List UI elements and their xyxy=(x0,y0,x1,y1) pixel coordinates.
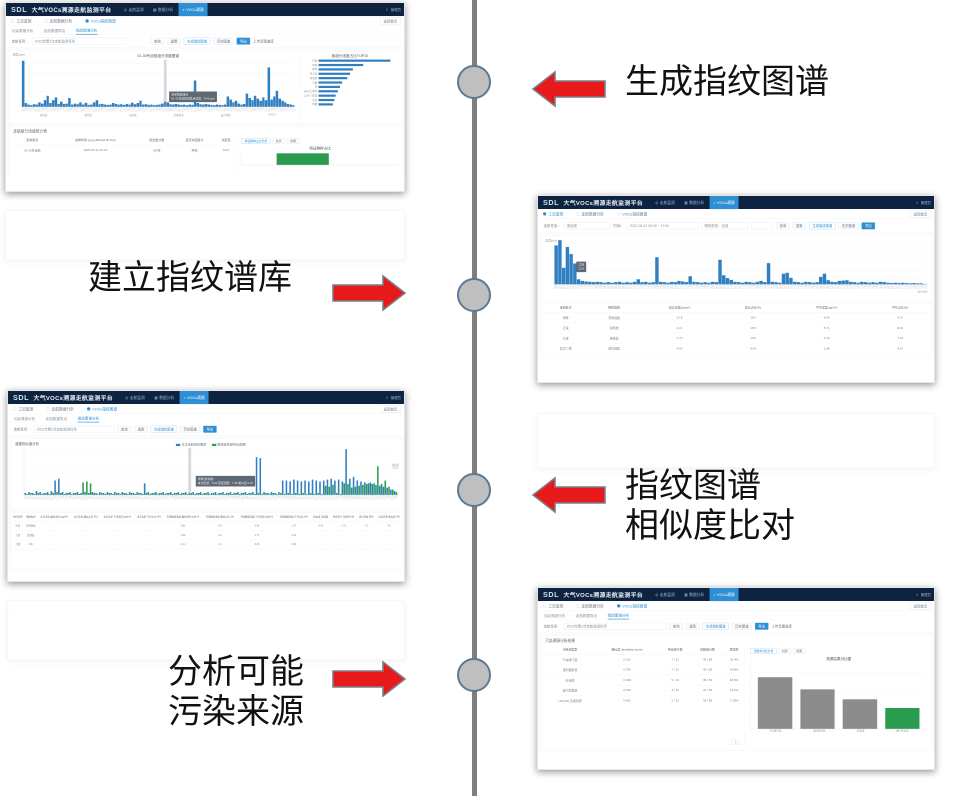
table-cell: 0.30 xyxy=(277,540,312,549)
table-cell: 9.31 xyxy=(868,313,933,323)
tab-data-export[interactable]: 走航数据导出 xyxy=(44,28,66,34)
y-axis-label: 浓度(ppb) xyxy=(13,52,25,56)
species-select[interactable]: 物种类别：全部 xyxy=(702,222,749,229)
table-cell: 1.73 xyxy=(330,521,357,530)
table-cell: 01-30号走航 xyxy=(13,145,51,155)
table-header-cell: 贡献率 xyxy=(724,646,745,655)
sub-nav-item-working-condition[interactable]: 工况监测 xyxy=(11,18,31,23)
bar xyxy=(297,481,299,495)
table-cell: 甲苯 xyxy=(11,521,24,530)
table-cell: 6.04 xyxy=(785,313,867,323)
bar xyxy=(289,481,291,494)
flow-label-step-2: 建立指纹谱库 xyxy=(88,258,292,298)
chart-icon: ◎ xyxy=(124,7,127,11)
x-tick-labels xyxy=(21,107,295,113)
radio-icon-selected xyxy=(85,19,88,22)
table-cell: 45 / 58 xyxy=(691,654,723,664)
bar-series-shot4 xyxy=(751,664,926,728)
tab-navigation-monitoring[interactable]: ◎走航监测 xyxy=(651,196,679,209)
table-header-cell: 本次走航 平均浓度 (μg/m³) xyxy=(100,513,134,521)
contribution-compare-button[interactable]: 贡献率对比分析 xyxy=(750,648,776,654)
table-cell: 乙烷 xyxy=(541,323,589,333)
sub-nav-item-voyage-analysis[interactable]: 走航数据分析 xyxy=(46,406,74,411)
radio-icon xyxy=(44,19,47,22)
source-table: 污染源类型相似度 (similarity score)特征因子数匹配组分数贡献率… xyxy=(541,646,744,706)
table-header-cell: 最高浓度组分 xyxy=(174,136,215,145)
table-header-cell: 本次走航 最高浓度 (μg/m³) xyxy=(37,513,71,521)
timeline-node-2 xyxy=(457,278,491,312)
generate-fingerprint-button[interactable]: 生成指纹图谱 xyxy=(184,38,211,45)
table-cell: - xyxy=(71,530,100,539)
sub-nav-item-working-condition[interactable]: 工况监测 xyxy=(543,211,563,216)
table-cell: 4.53 xyxy=(638,343,720,353)
table-cell: 烯烃类 xyxy=(590,333,638,343)
table-cell: 乙烯 xyxy=(11,540,24,549)
radio-icon xyxy=(576,604,579,607)
tab-pollution-trace[interactable]: 污染溯源分析 xyxy=(544,613,565,619)
bar xyxy=(319,481,321,494)
table-cell: - xyxy=(37,521,71,530)
tab-data-analysis[interactable]: ▦数据分析 xyxy=(680,588,708,601)
table-cell: 0.784 xyxy=(595,665,659,675)
table-cell: 8.02 xyxy=(868,323,933,333)
spectrum-panel: 浓度(ppb) 乙烷 12.8 组分名称 xyxy=(541,235,933,300)
voyage-select[interactable]: 2023年第2次走航监测任务 xyxy=(564,623,667,630)
table-cell: 18.6% xyxy=(724,675,745,685)
table-cell: LPG/NG 及燃烧源 xyxy=(545,696,595,706)
app-logo: SDL xyxy=(11,5,27,13)
bar xyxy=(22,61,24,107)
radio-icon-selected xyxy=(617,604,620,607)
tab-vocs-traceability[interactable]: ⌕VOCs溯源 xyxy=(709,196,738,209)
bar xyxy=(758,677,792,728)
bar-series-shot2 xyxy=(554,240,926,284)
table-header-row: 走航批次采样时间 (yyyy-MM-dd hh:mm)检出组分数最高浓度组分浓度… xyxy=(9,136,237,145)
search-icon: ⌕ xyxy=(714,592,716,597)
table-header-cell: 采样时间 (yyyy-MM-dd hh:mm) xyxy=(51,136,139,145)
tab-pollution-trace[interactable]: 污染溯源分析 xyxy=(12,28,34,34)
stats-panel-title: 走航组分浓度统计表 xyxy=(9,126,402,136)
back-home-button[interactable]: 返回首页 xyxy=(380,17,401,25)
chart-legend: 本次走航指纹图谱 图谱库匹配特征谱图 xyxy=(24,441,398,447)
sub-nav-item-voyage-analysis[interactable]: 走航数据分析 xyxy=(576,603,604,608)
stats-table: 走航批次采样时间 (yyyy-MM-dd hh:mm)检出组分数最高浓度组分浓度… xyxy=(9,136,237,155)
search-icon: ⌕ xyxy=(714,200,716,205)
tab-data-analysis[interactable]: ▦数据分析 xyxy=(149,3,177,16)
table-header-cell: 综合匹配 相似度 (%) xyxy=(376,513,403,521)
table-cell: - xyxy=(134,540,163,549)
table-row[interactable]: 油气挥发源0.5193 / 1231 / 5813.2% xyxy=(541,685,744,695)
filter-bar: 走航任务： 2023年第2次走航监测任务 查询 重置 生成指纹图谱 历史图谱 导… xyxy=(6,35,405,48)
table-cell: - xyxy=(100,530,134,539)
table-cell: 乙烯 xyxy=(541,333,589,343)
arrow-right-step-4 xyxy=(331,658,407,700)
table-cell: 9.04 xyxy=(721,343,786,353)
screenshot-panel-generate-fingerprint[interactable]: SDL 大气VOCs溯源走航监测平台 ◎走航监测 ▦数据分析 ⌕VOCs溯源 ☺… xyxy=(5,2,405,192)
generate-fingerprint-button[interactable]: 生成指纹图谱 xyxy=(151,426,177,433)
table-header-cell: 最高浓度(μg/m³) xyxy=(638,304,720,313)
radio-icon-selected xyxy=(543,212,546,215)
table-cell: 24.8% xyxy=(724,665,745,675)
table-row[interactable]: 乙烯N/A----1.0.11.13.030.30---- xyxy=(11,540,402,549)
history-spectrum-button[interactable]: 历史图谱 xyxy=(214,38,234,45)
table-cell: 31 / 58 xyxy=(691,685,723,695)
chart-icon: ◎ xyxy=(655,200,658,204)
table-row[interactable]: 石化源0.6485 / 1235 / 5818.6% xyxy=(541,675,744,685)
radio-icon xyxy=(543,604,546,607)
upload-to-library-link[interactable]: 上传至图谱库 xyxy=(771,624,792,629)
user-icon: ☺ xyxy=(915,201,918,205)
table-cell: 0.912 xyxy=(595,654,659,664)
table-header-cell: 相似度 (similarity score) xyxy=(595,646,659,655)
top10-bar-row: 丙烷 xyxy=(303,63,397,66)
date-range-input[interactable]: 2023-05-12 09:00 ~ 17:00 xyxy=(627,222,699,229)
table-row[interactable]: 乙烯烯烃类7.7210.84.127.14 xyxy=(541,333,932,343)
reset-button[interactable]: 重置 xyxy=(134,426,147,433)
table-header-cell: 污染源类型 xyxy=(545,646,595,655)
table-cell: 1.27 xyxy=(277,521,312,530)
back-home-button[interactable]: 返回首页 xyxy=(380,405,401,412)
app-logo: SDL xyxy=(543,198,559,206)
table-header-cell: 组分贡献 排序 xyxy=(357,513,376,521)
voyage-select[interactable]: 请选择 xyxy=(564,222,611,229)
table-cell: 8.4 xyxy=(203,521,238,530)
table-cell: 4.12 xyxy=(785,333,867,343)
stats-panel: 走航组分浓度统计表 走航批次采样时间 (yyyy-MM-dd hh:mm)检出组… xyxy=(9,126,403,176)
table-cell: 11.6 xyxy=(638,323,720,333)
table-cell: 甲苯 xyxy=(541,313,589,323)
table-cell: 油气挥发源 xyxy=(545,685,595,695)
sub-nav-item-working-condition[interactable]: 工况监测 xyxy=(13,406,33,411)
table-cell: 7.72 xyxy=(638,333,720,343)
table-cell: 汽车尾气源 xyxy=(545,654,595,664)
table-cell: 1.1 xyxy=(203,540,238,549)
history-spectrum-button[interactable]: 历史图谱 xyxy=(732,623,752,630)
radio-icon xyxy=(13,407,16,410)
panel-title: 污染溯源分析结果 xyxy=(541,636,932,646)
x-tick-labels xyxy=(554,285,928,291)
date-label: 时间： xyxy=(614,223,624,228)
sub-nav-item-vocs-fingerprint[interactable]: VOCs指纹图谱 xyxy=(85,18,115,23)
table-cell: - xyxy=(330,530,357,539)
filter-label: 走航任务： xyxy=(544,624,561,629)
table-cell: 15.5 xyxy=(721,323,786,333)
table-header-cell: 组分名称 xyxy=(11,513,24,521)
table-row[interactable]: 乙烷烷烃类11.615.55.718.02 xyxy=(541,323,932,333)
table-cell: - xyxy=(376,540,403,549)
table-row[interactable]: 溶剂使用源0.7847 / 1240 / 5824.8% xyxy=(541,665,744,675)
table-header-cell: 最高占比(%) xyxy=(721,304,786,313)
top10-bar-row: 甲苯 xyxy=(303,68,397,71)
bar xyxy=(885,708,919,729)
bar xyxy=(304,481,306,495)
table-cell: 5 / 12 xyxy=(659,675,691,685)
table-row[interactable]: 异戊二烯卤代烃类4.539.042.985.42 xyxy=(541,343,932,353)
user-icon: ☺ xyxy=(385,396,388,400)
table-cell: - xyxy=(37,530,71,539)
screenshot-panel-faded-upper-left: 走航批次采样时间 (yyyy-MM-dd hh:mm)检出组分数最高浓度组分浓度… xyxy=(5,210,405,260)
legend-item-current: 本次走航指纹图谱 xyxy=(176,442,206,447)
table-header-row: 污染源类型相似度 (similarity score)特征因子数匹配组分数贡献率 xyxy=(541,646,744,655)
table-header-cell: 特征因子数 xyxy=(659,646,691,655)
table-header-cell: 平均占比(%) xyxy=(868,304,933,313)
table-header-cell: 物种类别 xyxy=(24,513,37,521)
table-cell: 2.77 xyxy=(237,530,276,539)
table-cell: 乙烷 xyxy=(11,530,24,539)
bar-series-shot3 xyxy=(24,449,396,495)
similarity-chart-panel: 谱图相似度分析 本次走航指纹图谱 图谱库匹配特征谱图 甲苯(苯系物) 本次走航：… xyxy=(11,439,403,511)
generate-fingerprint-button[interactable]: 生成指纹图谱 xyxy=(702,623,728,630)
bar xyxy=(655,257,658,284)
table-cell: - xyxy=(330,540,357,549)
table-header-cell: 匹配图谱源谱 平均占比 (%) xyxy=(277,513,312,521)
sub-nav-item-vocs-fingerprint[interactable]: VOCs指纹图谱 xyxy=(617,603,647,608)
table-cell: 芳香烃类 xyxy=(590,313,638,323)
tab-data-export[interactable]: 走航数据导出 xyxy=(46,416,67,422)
search-icon: ⌕ xyxy=(184,395,186,400)
query-button[interactable]: 查询 xyxy=(118,426,131,433)
source-chart-title: 溯源结果对比图 xyxy=(750,655,927,661)
table-cell: 4.53 xyxy=(163,530,202,539)
bar xyxy=(843,699,877,729)
x-axis-group-labels: 烷烃类烯烃类炔烃类芳香烃类卤代烃类OVOCs xyxy=(21,113,295,116)
sub-nav-item-working-condition[interactable]: 工况监测 xyxy=(543,603,563,608)
user-menu[interactable]: ☺管理员 xyxy=(915,200,931,205)
table-cell: 烷烃类 xyxy=(590,323,638,333)
table-cell: 异戊二烯 xyxy=(541,343,589,353)
pie-view-button[interactable]: 饼图 xyxy=(793,648,805,654)
history-spectrum-button[interactable]: 历史图谱 xyxy=(839,222,859,229)
table-header-cell: 本次走航 平均占比 (%) xyxy=(134,513,163,521)
filter-label: 走航任务： xyxy=(12,39,29,44)
tab-data-analysis[interactable]: ▦数据分析 xyxy=(150,391,178,404)
sub-nav-row: 工况监测 走航数据分析 VOCs指纹图谱 返回首页 xyxy=(6,16,405,26)
upload-to-library-link[interactable]: 上传至图谱库 xyxy=(253,39,274,44)
table-cell: -4.1 xyxy=(376,521,403,530)
grid-icon: ▦ xyxy=(684,592,688,596)
tab-data-analysis[interactable]: ▦数据分析 xyxy=(680,196,708,209)
screenshot-panel-fingerprint-library[interactable]: SDL 大气VOCs溯源走航监测平台 ◎走航监测 ▦数据分析 ⌕VOCs溯源 ☺… xyxy=(537,195,935,383)
screenshot-panel-similarity-compare[interactable]: SDL 大气VOCs溯源走航监测平台 ◎走航监测 ▦数据分析 ⌕VOCs溯源 ☺… xyxy=(7,390,405,582)
table-cell: 4.41 xyxy=(311,521,330,530)
panel-title: 谱图相似度分析 xyxy=(15,441,39,446)
history-spectrum-button[interactable]: 历史图谱 xyxy=(180,426,200,433)
table-cell: 7 / 12 xyxy=(659,665,691,675)
table-cell: - xyxy=(357,540,376,549)
table-cell: 2.98 xyxy=(785,343,867,353)
table-row[interactable]: LPG/NG 及燃烧源0.4022 / 1228 / 587.18% xyxy=(541,696,744,706)
table-row[interactable]: 甲苯苯系物类----5.818.45.041.274.411.73-7.1-4.… xyxy=(11,521,402,530)
search-icon: ⌕ xyxy=(182,7,184,12)
table-cell: - xyxy=(311,540,330,549)
table-cell: 28 / 58 xyxy=(691,696,723,706)
table-cell: - xyxy=(376,530,403,539)
x-tick-labels-shot4: 汽车尾气源溶剂使用源石化源油气挥发源 xyxy=(750,729,927,735)
user-icon: ☺ xyxy=(385,8,389,12)
bar xyxy=(260,458,262,495)
tab-fingerprint-analysis[interactable]: 指纹图谱分析 xyxy=(76,28,98,35)
table-cell: 58 种 xyxy=(139,145,174,155)
tab-fingerprint-analysis[interactable]: 指纹图谱分析 xyxy=(608,613,629,620)
screenshot-panel-source-analysis[interactable]: SDL 大气VOCs溯源走航监测平台 ◎走航监测 ▦数据分析 ⌕VOCs溯源 ☺… xyxy=(537,587,935,770)
table-header-cell: 浓度值 xyxy=(215,136,237,145)
main-chart-panel: 浓度(ppb) 01-30号走航组分浓度图谱 苯系物类组分 01-30号走航采样… xyxy=(9,50,403,123)
voyage-select[interactable]: 2023年第2次走航监测任务 xyxy=(34,426,115,433)
user-menu[interactable]: ☺管理员 xyxy=(915,592,931,597)
table-row[interactable]: 01-30号走航2023-05-12 10:2458 种甲苯8.42 xyxy=(9,145,237,155)
tab-vocs-traceability[interactable]: ⌕VOCs溯源 xyxy=(179,391,208,404)
table-row[interactable]: 乙烷烷烃类----4.532.62.770.31---- xyxy=(11,530,402,539)
table-header-cell: 相似度 贡献值 xyxy=(311,513,330,521)
reset-button[interactable]: 重置 xyxy=(167,38,180,45)
flow-label-step-3: 指纹图谱 相似度比对 xyxy=(625,466,795,546)
export-button[interactable]: 导出 xyxy=(203,426,216,433)
table-header-row: 走航批次物种类别最高浓度(μg/m³)最高占比(%)平均浓度(μg/m³)平均占… xyxy=(541,304,932,313)
export-button[interactable]: 导出 xyxy=(862,222,875,229)
top10-bar-row: 正丁烷 xyxy=(303,72,397,75)
app-title: 大气VOCs溯源走航监测平台 xyxy=(563,198,643,206)
table-cell: 5.71 xyxy=(785,323,867,333)
table-cell: 32.4% xyxy=(724,654,745,664)
x-axis-label: 组分名称 xyxy=(554,290,928,293)
top10-bars: 乙烷丙烷甲苯正丁烷异戊烷乙烯苯间/对二甲苯1,2,4-三甲苯乙苯丙烯 xyxy=(303,58,397,106)
back-home-button[interactable]: 返回首页 xyxy=(910,210,931,217)
bar xyxy=(256,457,258,495)
tab-navigation-monitoring[interactable]: ◎走航监测 xyxy=(651,588,679,601)
app-logo: SDL xyxy=(13,393,29,401)
table-cell: - xyxy=(357,530,376,539)
table-cell: 2 / 12 xyxy=(659,696,691,706)
chart-icon: ◎ xyxy=(125,395,128,399)
tab-vocs-traceability[interactable]: ⌕VOCs溯源 xyxy=(178,3,207,16)
table-cell: 苯系物类 xyxy=(24,521,37,530)
tab-data-export[interactable]: 走航数据导出 xyxy=(576,613,597,619)
tab-pollution-trace[interactable]: 污染溯源分析 xyxy=(14,416,35,422)
bar-view-button[interactable]: 柱状 xyxy=(779,648,791,654)
user-icon: ☺ xyxy=(915,593,918,597)
table-cell: - xyxy=(100,540,134,549)
reset-button[interactable]: 重置 xyxy=(793,222,806,229)
bar-series-shot1 xyxy=(22,61,295,107)
sub-nav-item-voyage-analysis[interactable]: 走航数据分析 xyxy=(44,18,72,23)
table-cell: 13.2% xyxy=(724,685,745,695)
pagination[interactable]: 1 xyxy=(732,739,740,745)
table-cell: 3 / 12 xyxy=(659,685,691,695)
arrow-right-step-2 xyxy=(331,272,407,314)
table-cell: 甲苯 xyxy=(174,145,215,155)
table-cell: 2023-05-12 10:24 xyxy=(51,145,139,155)
bar xyxy=(800,689,834,728)
chart-icon: ◎ xyxy=(655,592,658,596)
section-tabs: 污染溯源分析 走航数据导出 指纹图谱分析 xyxy=(6,26,405,35)
table-cell: 0.402 xyxy=(595,696,659,706)
generate-fingerprint-button[interactable]: 生成指纹图谱 xyxy=(809,222,835,229)
arrow-left-step-1 xyxy=(531,68,607,110)
comparison-table-panel: 组分名称物种类别本次走航 最高浓度 (μg/m³)本次走航 最高占比 (%)本次… xyxy=(11,513,403,571)
grid-icon: ▦ xyxy=(154,395,158,399)
top10-bar-row: 乙苯 xyxy=(303,98,397,101)
query-button[interactable]: 查询 xyxy=(776,222,789,229)
table-header-cell: 匹配图谱源谱 最高浓度 (μg/m³) xyxy=(163,513,202,521)
table-cell: 1.0.1 xyxy=(163,540,202,549)
table-cell: 石化源 xyxy=(545,675,595,685)
bar xyxy=(282,481,284,495)
table-cell: 7.14 xyxy=(868,333,933,343)
app-title: 大气VOCs溯源走航监测平台 xyxy=(32,5,112,13)
table-cell: 0.31 xyxy=(277,530,312,539)
table-row[interactable]: 甲苯芳香烃类12.818.26.049.31 xyxy=(541,313,932,323)
tab-navigation-monitoring[interactable]: ◎走航监测 xyxy=(120,3,148,16)
table-cell: 5.81 xyxy=(163,521,202,530)
table-cell: 18.2 xyxy=(721,313,786,323)
export-button[interactable]: 导出 xyxy=(755,623,768,630)
sub-nav-item-vocs-fingerprint[interactable]: VOCs指纹图谱 xyxy=(617,211,647,216)
table-cell: 2.6 xyxy=(203,530,238,539)
table-cell: -7.1 xyxy=(357,521,376,530)
sub-nav-item-voyage-analysis[interactable]: 走航数据分析 xyxy=(576,211,604,216)
chart-tooltip: 甲苯(苯系物) 本次走航：8.42 匹配谱图：7.98 相似度 0.91 xyxy=(196,476,255,487)
table-header-cell: 匹配图谱源谱 最高占比 (%) xyxy=(203,513,238,521)
app-header: SDL 大气VOCs溯源走航监测平台 ◎走航监测 ▦数据分析 ⌕VOCs溯源 ☺… xyxy=(6,3,405,16)
top10-bar-row: 丙烯 xyxy=(303,103,397,106)
timeline-node-3 xyxy=(457,473,491,507)
table-row[interactable]: 汽车尾气源0.9127 / 1245 / 5832.4% xyxy=(541,654,744,664)
mini-chart-title: 特征物种占比 xyxy=(241,145,399,151)
table-cell: 0.648 xyxy=(595,675,659,685)
user-menu[interactable]: ☺管理员 xyxy=(385,7,401,12)
legend-item-matched: 图谱库匹配特征谱图 xyxy=(212,442,246,447)
user-menu[interactable]: ☺管理员 xyxy=(385,395,401,400)
query-button[interactable]: 查询 xyxy=(151,38,164,45)
chart-title: 01-30号走航组分浓度图谱 xyxy=(21,52,295,58)
table-header-cell: 本次走航 最高占比 (%) xyxy=(71,513,100,521)
table-header-cell: 检出组分数 xyxy=(139,136,174,145)
tab-vocs-traceability[interactable]: ⌕VOCs溯源 xyxy=(709,588,738,601)
app-title: 大气VOCs溯源走航监测平台 xyxy=(563,590,643,598)
table-cell: 烷烃类 xyxy=(24,530,37,539)
top10-bar-row: 苯 xyxy=(303,85,397,88)
table-cell: 40 / 58 xyxy=(691,665,723,675)
sub-nav-item-vocs-fingerprint[interactable]: VOCs指纹图谱 xyxy=(87,406,117,411)
table-cell: 0.519 xyxy=(595,685,659,695)
table-cell: 卤代烃类 xyxy=(590,343,638,353)
table-header-cell: 匹配组分数 xyxy=(691,646,723,655)
table-cell: - xyxy=(37,540,71,549)
table-cell: N/A xyxy=(24,540,37,549)
table-cell: 溶剂使用源 xyxy=(545,665,595,675)
radio-icon xyxy=(576,212,579,215)
top10-bar-row: 乙烯 xyxy=(303,81,397,84)
export-button[interactable]: 导出 xyxy=(237,38,250,45)
flow-label-step-4: 分析可能 污染来源 xyxy=(168,652,304,732)
table-cell: 12.8 xyxy=(638,313,720,323)
table-header-cell: 特征因子 贡献率 (%) xyxy=(330,513,357,521)
reset-button[interactable]: 重置 xyxy=(686,623,699,630)
top10-bar-row: 乙烷 xyxy=(303,59,397,62)
table-header-cell: 走航批次 xyxy=(541,304,589,313)
tab-fingerprint-analysis[interactable]: 指纹图谱分析 xyxy=(78,416,99,423)
query-button[interactable]: 查询 xyxy=(670,623,683,630)
table-cell: - xyxy=(134,521,163,530)
grid-icon: ▦ xyxy=(684,200,688,204)
table-cell: 5.04 xyxy=(237,521,276,530)
tab-navigation-monitoring[interactable]: ◎走航监测 xyxy=(121,391,149,404)
table-cell: 5.42 xyxy=(868,343,933,353)
voyage-select[interactable]: 2023年第2次走航监测任务 xyxy=(32,38,126,45)
table-cell: - xyxy=(100,521,134,530)
top10-bar-row: 异戊烷 xyxy=(303,76,397,79)
back-home-button[interactable]: 返回首页 xyxy=(910,602,931,609)
